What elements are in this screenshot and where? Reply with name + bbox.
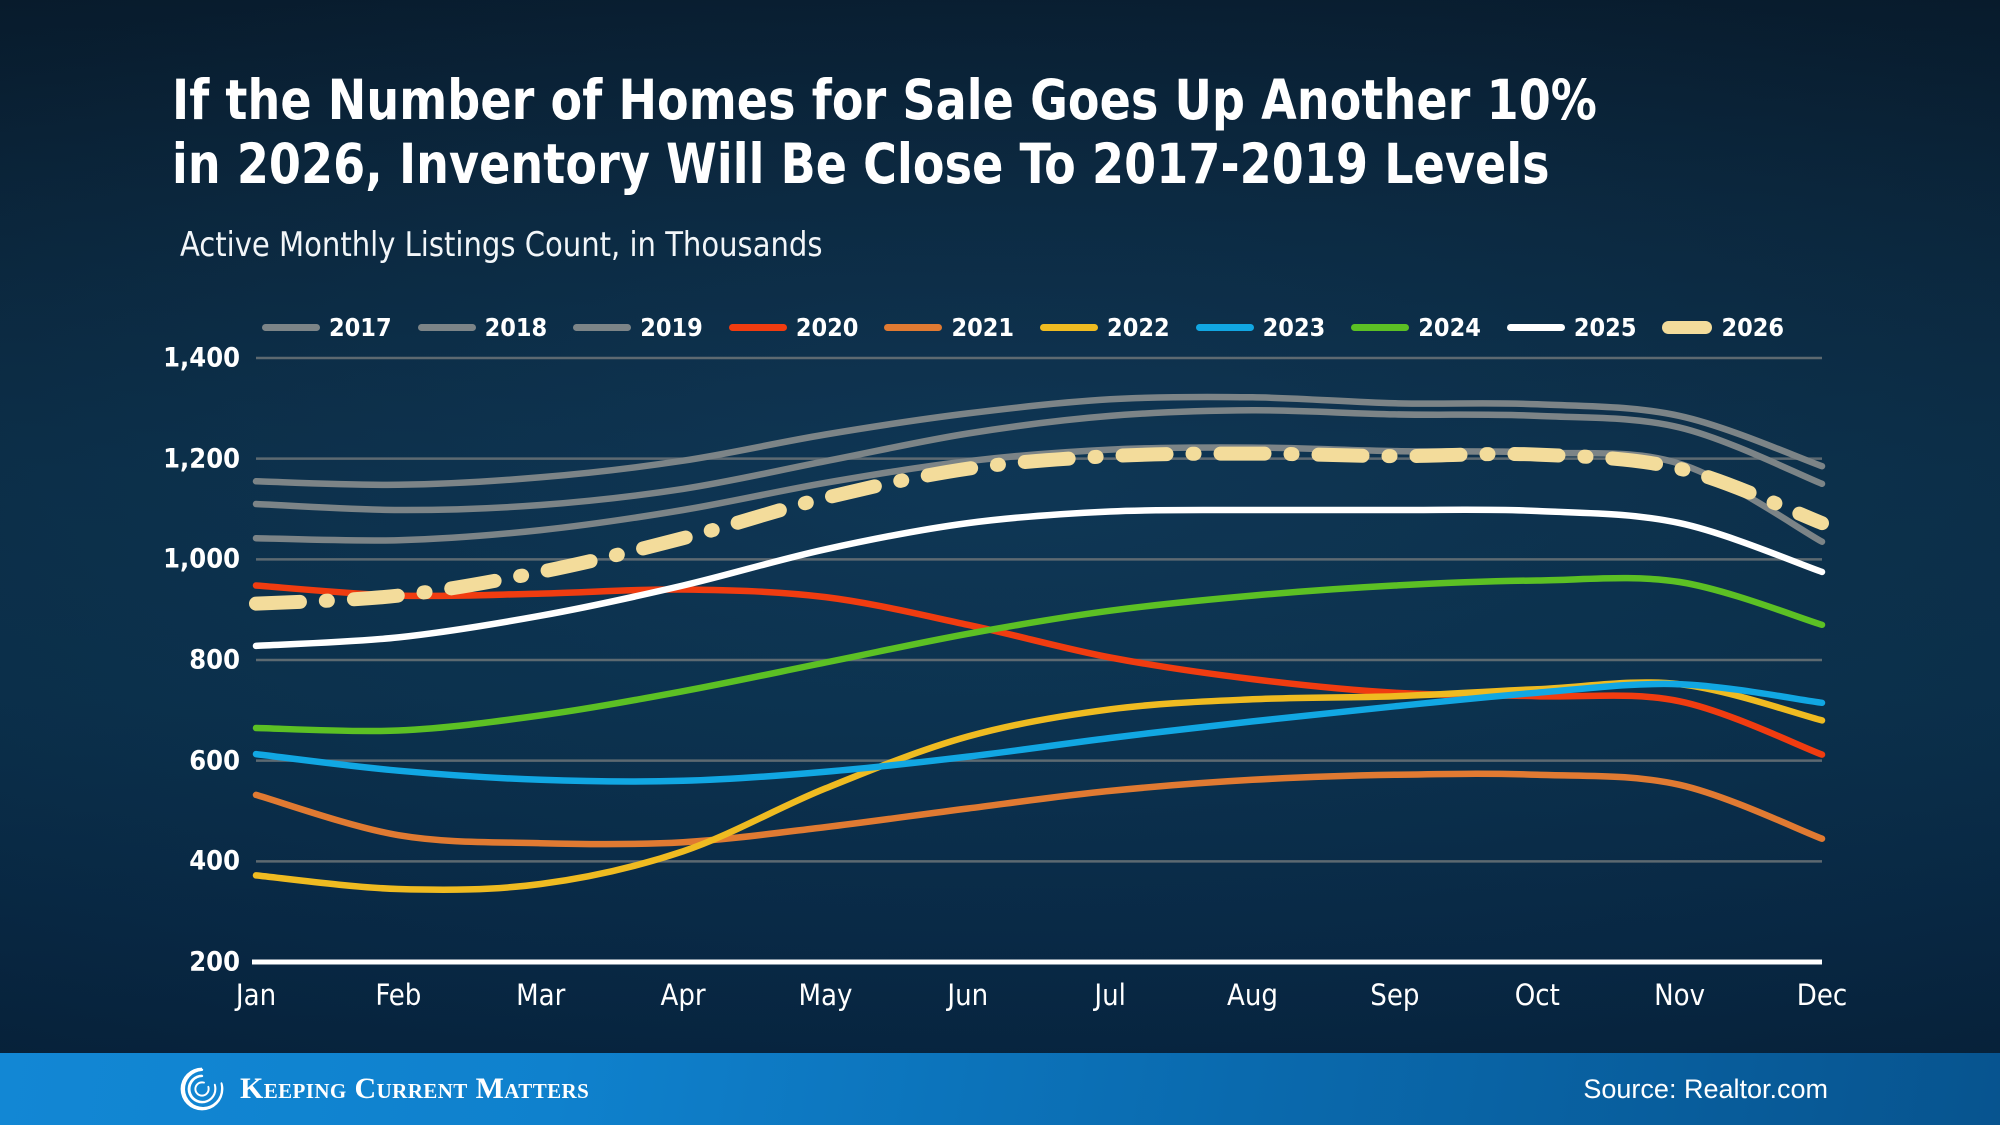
brand-lockup: Keeping Current Matters — [178, 1065, 589, 1113]
x-axis-tick-label: Aug — [1183, 978, 1323, 1012]
x-axis-tick-label: Apr — [613, 978, 753, 1012]
chart-plot-area: 2004006008001,0001,2001,400 JanFebMarApr… — [0, 0, 2000, 1010]
x-axis-tick-label: Sep — [1325, 978, 1465, 1012]
y-axis-tick-label: 200 — [40, 947, 240, 978]
x-axis-tick-label: Oct — [1467, 978, 1607, 1012]
y-axis-tick-label: 1,400 — [40, 343, 240, 374]
brand-name: Keeping Current Matters — [240, 1072, 589, 1106]
infographic-poster: If the Number of Homes for Sale Goes Up … — [0, 0, 2000, 1125]
x-axis-tick-label: Dec — [1752, 978, 1892, 1012]
y-axis-tick-label: 600 — [40, 745, 240, 776]
x-axis-tick-label: Feb — [328, 978, 468, 1012]
x-axis-tick-label: May — [755, 978, 895, 1012]
y-axis-tick-label: 400 — [40, 846, 240, 877]
y-axis-tick-label: 1,200 — [40, 443, 240, 474]
x-axis-tick-label: Nov — [1610, 978, 1750, 1012]
x-axis-tick-label: Jul — [1040, 978, 1180, 1012]
x-axis-tick-label: Jan — [186, 978, 326, 1012]
y-axis-labels: 2004006008001,0001,2001,400 — [0, 0, 2000, 1010]
keeping-current-matters-logo-icon — [178, 1065, 226, 1113]
footer-bar: Keeping Current Matters Source: Realtor.… — [0, 1053, 2000, 1125]
source-label: Source: Realtor.com — [1583, 1074, 1828, 1105]
y-axis-tick-label: 1,000 — [40, 544, 240, 575]
x-axis-tick-label: Mar — [471, 978, 611, 1012]
y-axis-tick-label: 800 — [40, 645, 240, 676]
x-axis-tick-label: Jun — [898, 978, 1038, 1012]
